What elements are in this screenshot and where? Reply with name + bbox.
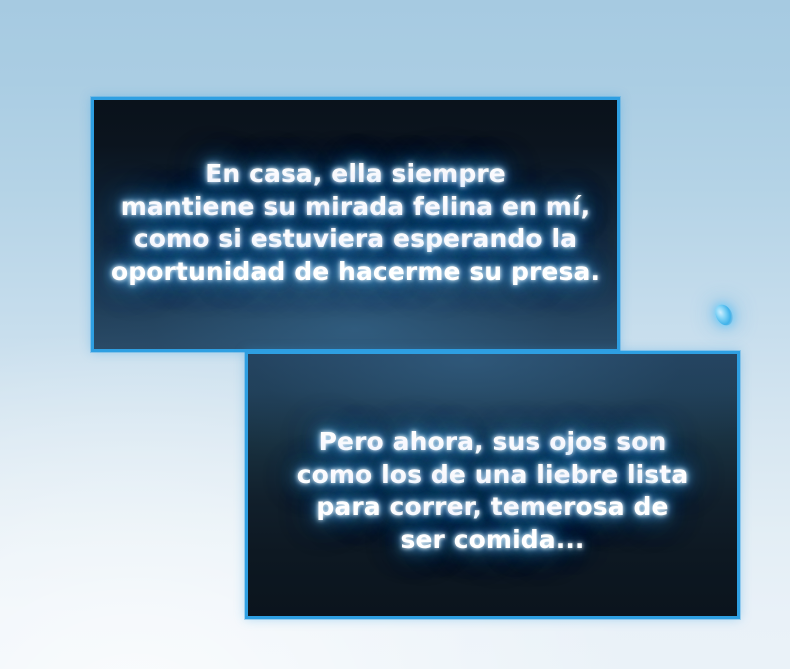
panel-top-narration: En casa, ella siempre mantiene su mirada… bbox=[94, 158, 617, 288]
comic-panel-top: En casa, ella siempre mantiene su mirada… bbox=[91, 97, 620, 352]
comic-panel-bottom: Pero ahora, sus ojos son como los de una… bbox=[245, 351, 740, 619]
glow-particle-icon bbox=[712, 302, 736, 329]
panel-bottom-narration: Pero ahora, sus ojos son como los de una… bbox=[248, 426, 737, 556]
comic-scene: En casa, ella siempre mantiene su mirada… bbox=[0, 0, 790, 669]
